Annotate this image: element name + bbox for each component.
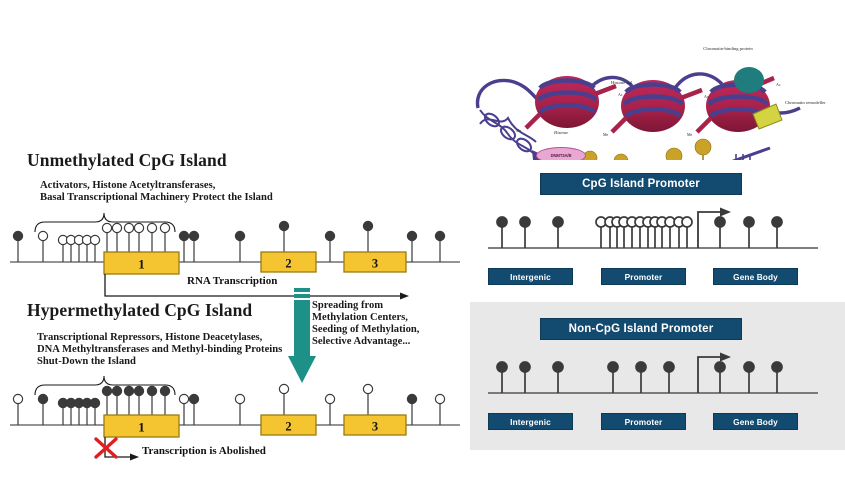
cpg-methylated-site — [520, 362, 530, 372]
ac-mark-2: Ac — [704, 94, 709, 99]
cpg-methylated-site — [608, 362, 618, 372]
non-cpg-island-promoter-title: Non-CpG Island Promoter — [540, 318, 742, 340]
dna-helix — [480, 110, 536, 156]
me-mark-2: Me — [603, 132, 608, 137]
tss-arrow — [698, 208, 731, 249]
non-cpg-region-gene-body: Gene Body — [713, 413, 798, 430]
cpg-methylated-site — [435, 231, 444, 240]
cpg-unmethylated-site — [102, 223, 111, 232]
cpg-methylated-site — [325, 231, 334, 240]
cpg-methylated-site — [407, 231, 416, 240]
cpg-unmethylated-site — [147, 223, 156, 232]
cpg-methylated-site — [189, 231, 198, 240]
cpg-unmethylated-site — [160, 223, 169, 232]
spreading-line-3: Seeding of Methylation, — [312, 324, 419, 336]
cpg-island-promoter-title: CpG Island Promoter — [540, 173, 742, 195]
cpg-unmethylated-site — [13, 394, 22, 403]
cpg-methylated-site — [407, 394, 416, 403]
spreading-line-1: Spreading from — [312, 300, 383, 312]
nucleosome-1 — [526, 76, 616, 128]
histone-tail-label: Histone tail — [611, 80, 651, 86]
histone-label: Histone — [554, 130, 588, 136]
cpg-methylated-site — [744, 362, 754, 372]
exon-label-3: 3 — [372, 257, 378, 271]
cpg-unmethylated-site — [112, 223, 121, 232]
cpg-region-promoter: Promoter — [601, 268, 686, 285]
hypermethylated-annotation-line-2: DNA Methyltransferases and Methyl-bindin… — [37, 344, 282, 356]
dna-fiber — [675, 74, 722, 88]
cpg-methylated-site — [715, 362, 725, 372]
cpg-methylated-site — [363, 221, 372, 230]
spreading-line-4: Selective Advantage... — [312, 336, 410, 348]
exon-box-1: 1 — [104, 252, 179, 274]
cpg-methylated-site — [772, 362, 782, 372]
cpg-methylated-site — [664, 362, 674, 372]
exon-label-1: 1 — [138, 257, 145, 272]
cpg-unmethylated-site — [134, 223, 143, 232]
cpg-methylated-site — [112, 386, 121, 395]
exon-box-3: 3 — [344, 252, 406, 272]
right-figure-panel: Chromatin-binding protein Chromatin remo… — [470, 0, 845, 484]
chromatin-remodeller-label: Chromatin remodeller — [785, 100, 833, 106]
exon-box-2: 2 — [261, 252, 316, 272]
cpg-methylated-site — [235, 231, 244, 240]
me-mark-1: Me — [516, 128, 521, 133]
exon-box-3: 3 — [344, 415, 406, 435]
cpg-unmethylated-site — [325, 394, 334, 403]
ac-mark-1: Ac — [618, 92, 623, 97]
exon-label-2: 2 — [285, 257, 291, 271]
cpg-methylated-site — [279, 221, 288, 230]
cpg-methylated-site — [744, 217, 754, 227]
cpg-island-promoter-panel: CpG Island Promoter Intergenic Promoter … — [470, 160, 845, 300]
non-cpg-island-promoter-panel: Non-CpG Island Promoter Intergenic Promo… — [470, 302, 845, 450]
me-mark-3: Me — [687, 132, 692, 137]
cpg-methylated-site — [124, 386, 133, 395]
nucleosome-2 — [612, 80, 702, 132]
cpg-methylated-site — [38, 394, 47, 403]
cpg-unmethylated-site — [363, 384, 372, 393]
hypermethylated-annotation-line-1: Transcriptional Repressors, Histone Deac… — [37, 332, 262, 344]
cpg-methylated-site — [13, 231, 22, 240]
rna-transcription-label: RNA Transcription — [187, 275, 277, 287]
cpg-island-promoter-track — [470, 198, 845, 262]
cpg-unmethylated-site — [124, 223, 133, 232]
non-cpg-island-promoter-track — [470, 343, 845, 407]
transcription-abolished-label: Transcription is Abolished — [142, 445, 266, 457]
cpg-region-intergenic: Intergenic — [488, 268, 573, 285]
cpg-unmethylated-site — [90, 235, 99, 244]
exon-box-1: 1 — [104, 415, 179, 437]
cpg-unmethylated-site — [682, 217, 692, 227]
exon-label-1: 1 — [138, 420, 145, 435]
unmethylated-annotation-line-2: Basal Transcriptional Machinery Protect … — [40, 192, 273, 204]
unmethylated-heading: Unmethylated CpG Island — [27, 150, 227, 171]
exon-label-2: 2 — [285, 420, 291, 434]
cpg-methylated-site — [147, 386, 156, 395]
cpg-methylated-site — [715, 217, 725, 227]
cpg-lollipop-group — [497, 217, 782, 248]
chromatin-illustration: Chromatin-binding protein Chromatin remo… — [470, 30, 845, 175]
red-x-icon — [96, 439, 116, 457]
tss-arrow — [698, 353, 731, 394]
cpg-methylated-site — [134, 386, 143, 395]
cpg-methylated-site — [772, 217, 782, 227]
cpg-unmethylated-site — [179, 394, 188, 403]
left-figure-panel: Unmethylated CpG Island Activators, Hist… — [0, 0, 470, 484]
cpg-methylated-site — [636, 362, 646, 372]
chromatin-binding-protein-label: Chromatin-binding protein — [698, 46, 758, 52]
cpg-methylated-site — [179, 231, 188, 240]
cpg-methylated-site — [160, 386, 169, 395]
cpg-methylated-site — [553, 217, 563, 227]
unmethylated-annotation-line-1: Activators, Histone Acetyltransferases, — [40, 180, 215, 192]
cpg-methylated-site — [102, 386, 111, 395]
hypermethylated-heading: Hypermethylated CpG Island — [27, 300, 252, 321]
cpg-lollipop-group — [497, 362, 782, 393]
abolished-transcription-arrow — [105, 437, 139, 461]
cpg-methylated-site — [90, 398, 99, 407]
cpg-unmethylated-site — [435, 394, 444, 403]
exon-label-3: 3 — [372, 420, 378, 434]
tss-arrow-head — [720, 353, 731, 362]
non-cpg-region-promoter: Promoter — [601, 413, 686, 430]
cpg-unmethylated-site — [235, 394, 244, 403]
cpg-unmethylated-site — [279, 384, 288, 393]
cpg-methylated-site — [520, 217, 530, 227]
chromatin-binding-protein-shape — [734, 67, 764, 93]
cpg-methylated-site — [497, 217, 507, 227]
spreading-line-2: Methylation Centers, — [312, 312, 408, 324]
unmethylated-track: 1 2 3 — [0, 204, 470, 304]
tss-arrow-head — [720, 208, 731, 217]
exon-box-2: 2 — [261, 415, 316, 435]
cpg-unmethylated-site — [38, 231, 47, 240]
cpg-methylated-site — [497, 362, 507, 372]
non-cpg-region-intergenic: Intergenic — [488, 413, 573, 430]
cpg-methylated-site — [189, 394, 198, 403]
cpg-region-gene-body: Gene Body — [713, 268, 798, 285]
cpg-methylated-site — [553, 362, 563, 372]
ac-mark-3: Ac — [776, 82, 781, 87]
